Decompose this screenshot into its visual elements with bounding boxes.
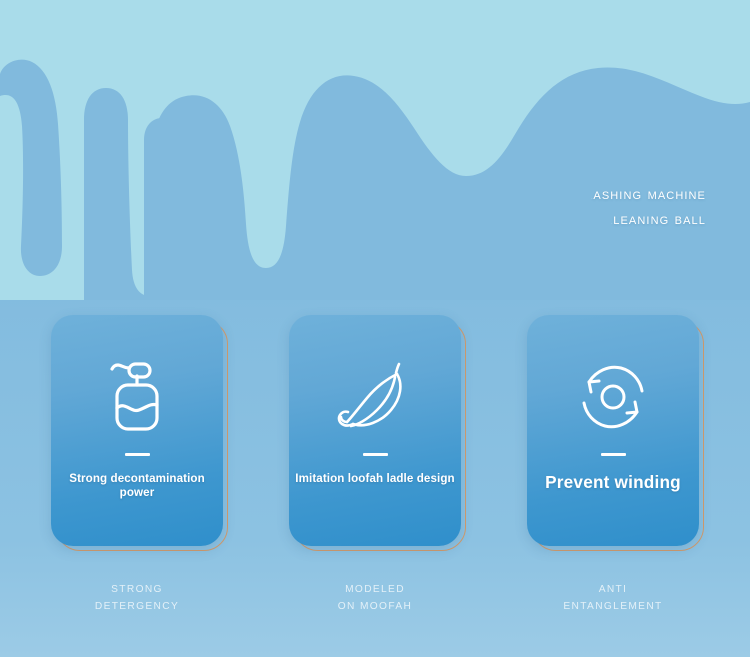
card-title-3: Prevent winding [533,472,693,493]
drip-body-shape [84,88,150,300]
card-title-1: Strong decontamination power [57,472,217,500]
headline-line-1: Washing machine [591,182,706,207]
card-title-2: Imitation loofah ladle design [295,472,455,486]
drip-edge-shape [0,60,62,276]
headline-line-2: cleaning ball [591,207,706,232]
caption-2-line-2: ON MOOFAH [289,599,461,616]
loofah-gourd-icon [333,359,417,435]
caption-2-line-1: MODELED [289,582,461,599]
caption-1: STRONG DETERGENCY [51,582,223,615]
caption-row: STRONG DETERGENCY MODELED ON MOOFAH ANTI… [0,582,750,615]
rotation-arrows-icon [576,359,650,435]
feature-card-loofah-design[interactable]: Imitation loofah ladle design [289,315,461,546]
soap-dispenser-icon [105,359,169,435]
page-title: Washing machine cleaning ball [591,182,706,232]
caption-1-line-2: DETERGENCY [51,599,223,616]
card-divider-1 [125,453,150,456]
caption-3-line-2: ENTANGLEMENT [527,599,699,616]
feature-card-row: Strong decontamination power [0,315,750,546]
caption-1-line-1: STRONG [51,582,223,599]
caption-3-line-1: ANTI [527,582,699,599]
feature-card-slot-3: Prevent winding [527,315,699,546]
caption-2: MODELED ON MOOFAH [289,582,461,615]
card-divider-2 [363,453,388,456]
drip-small-tendril [144,118,180,300]
liquid-drip-background [0,0,750,300]
feature-card-slot-2: Imitation loofah ladle design [289,315,461,546]
caption-3: ANTI ENTANGLEMENT [527,582,699,615]
feature-card-strong-decontamination[interactable]: Strong decontamination power [51,315,223,546]
feature-card-prevent-winding[interactable]: Prevent winding [527,315,699,546]
card-divider-3 [601,453,626,456]
feature-card-slot-1: Strong decontamination power [51,315,223,546]
drip-fill [0,0,750,300]
product-feature-poster: Washing machine cleaning ball [0,0,750,657]
